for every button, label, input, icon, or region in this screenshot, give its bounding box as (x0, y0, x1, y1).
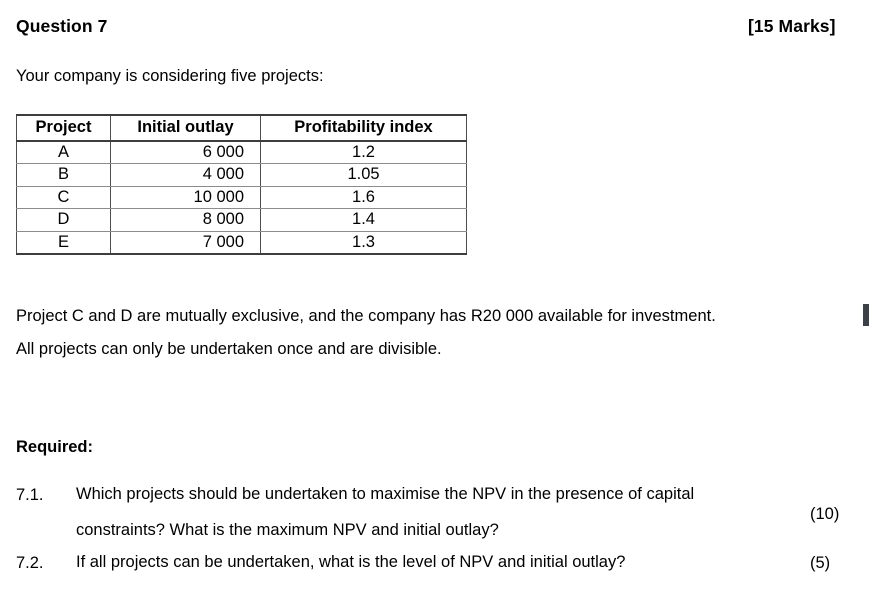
cell-profitability-index: 1.4 (261, 209, 467, 232)
sub-question-body: If all projects can be undertaken, what … (76, 554, 816, 571)
sub-question-number: 7.2. (16, 554, 72, 573)
sub-question-line-2: constraints? What is the maximum NPV and… (76, 522, 816, 539)
column-header-initial-outlay: Initial outlay (111, 115, 261, 141)
cell-project: A (17, 141, 111, 164)
cell-profitability-index: 1.3 (261, 231, 467, 254)
cell-profitability-index: 1.05 (261, 164, 467, 187)
sub-question-line-1: If all projects can be undertaken, what … (76, 554, 816, 571)
table-header: Project Initial outlay Profitability ind… (17, 115, 467, 141)
cell-initial-outlay: 4 000 (111, 164, 261, 187)
sub-question-marks: (10) (810, 505, 839, 524)
page-title: Question 7 (16, 16, 107, 37)
sub-question-body: Which projects should be undertaken to m… (76, 486, 816, 538)
column-header-profitability-index: Profitability index (261, 115, 467, 141)
body-paragraph-2: All projects can only be undertaken once… (16, 340, 442, 359)
cell-project: B (17, 164, 111, 187)
table-row: C 10 000 1.6 (17, 186, 467, 209)
sub-question-number: 7.1. (16, 486, 72, 505)
table-row: E 7 000 1.3 (17, 231, 467, 254)
table-row: D 8 000 1.4 (17, 209, 467, 232)
cell-initial-outlay: 8 000 (111, 209, 261, 232)
table-body: A 6 000 1.2 B 4 000 1.05 C 10 000 1.6 D … (17, 141, 467, 255)
cell-profitability-index: 1.6 (261, 186, 467, 209)
cell-project: D (17, 209, 111, 232)
cell-initial-outlay: 6 000 (111, 141, 261, 164)
document-page: Question 7 [15 Marks] Your company is co… (0, 0, 893, 603)
text-cursor-mark (863, 304, 869, 326)
table-row: A 6 000 1.2 (17, 141, 467, 164)
total-marks-label: [15 Marks] (748, 16, 836, 37)
column-header-project: Project (17, 115, 111, 141)
table-row: B 4 000 1.05 (17, 164, 467, 187)
cell-initial-outlay: 10 000 (111, 186, 261, 209)
projects-table: Project Initial outlay Profitability ind… (16, 114, 467, 255)
cell-project: E (17, 231, 111, 254)
intro-text: Your company is considering five project… (16, 67, 324, 86)
cell-initial-outlay: 7 000 (111, 231, 261, 254)
sub-question-marks: (5) (810, 554, 830, 573)
body-paragraph-1: Project C and D are mutually exclusive, … (16, 307, 716, 326)
question-header: Question 7 [15 Marks] (16, 16, 861, 42)
cell-project: C (17, 186, 111, 209)
required-heading: Required: (16, 438, 93, 457)
sub-question-line-1: Which projects should be undertaken to m… (76, 486, 816, 503)
table-header-row: Project Initial outlay Profitability ind… (17, 115, 467, 141)
cell-profitability-index: 1.2 (261, 141, 467, 164)
